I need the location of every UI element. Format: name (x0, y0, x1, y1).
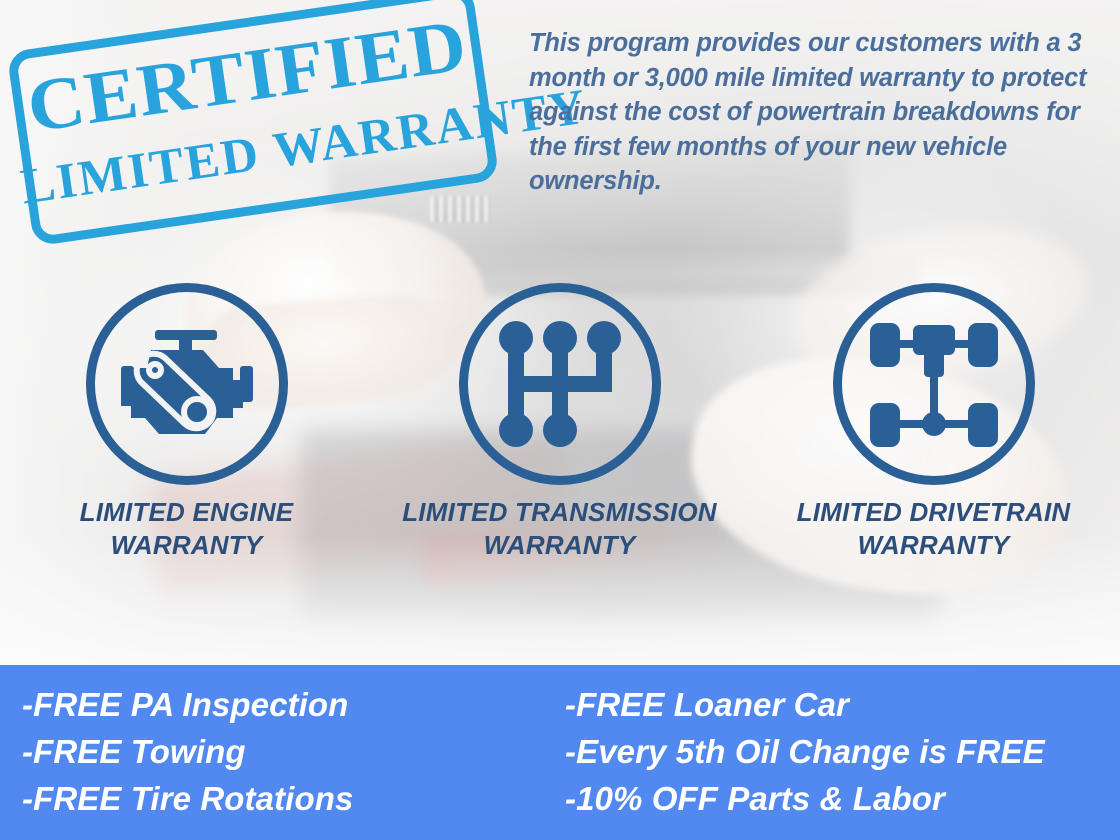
drivetrain-caption: LIMITED DRIVETRAIN WARRANTY (747, 496, 1120, 562)
perks-column-left: -FREE PA Inspection -FREE Towing -FREE T… (22, 681, 353, 822)
perks-banner: -FREE PA Inspection -FREE Towing -FREE T… (0, 665, 1120, 840)
perk-item: -FREE Towing (22, 728, 353, 775)
transmission-caption-line2: WARRANTY (373, 529, 746, 562)
drivetrain-caption-line1: LIMITED DRIVETRAIN (747, 496, 1120, 529)
perk-item: -FREE Loaner Car (565, 681, 1045, 728)
warranty-promo-graphic: CERTIFIED LIMITED WARRANTY This program … (0, 0, 1120, 840)
perk-item: -FREE PA Inspection (22, 681, 353, 728)
transmission-caption-line1: LIMITED TRANSMISSION (373, 496, 746, 529)
perk-item: -Every 5th Oil Change is FREE (565, 728, 1045, 775)
engine-caption: LIMITED ENGINE WARRANTY (0, 496, 373, 562)
feature-limited-transmission-warranty: LIMITED TRANSMISSION WARRANTY (373, 283, 746, 562)
program-description-paragraph: This program provides our customers with… (529, 26, 1089, 199)
warranty-coverage-list: LIMITED ENGINE WARRANTY (0, 283, 1120, 573)
transmission-shifter-icon (499, 321, 621, 447)
perk-item: -10% OFF Parts & Labor (565, 775, 1045, 822)
engine-icon (121, 330, 253, 438)
engine-caption-line1: LIMITED ENGINE (0, 496, 373, 529)
drivetrain-icon (870, 319, 998, 449)
drivetrain-caption-line2: WARRANTY (747, 529, 1120, 562)
drivetrain-icon-circle (833, 283, 1035, 485)
feature-limited-engine-warranty: LIMITED ENGINE WARRANTY (0, 283, 373, 562)
engine-caption-line2: WARRANTY (0, 529, 373, 562)
perks-column-right: -FREE Loaner Car -Every 5th Oil Change i… (565, 681, 1045, 822)
transmission-caption: LIMITED TRANSMISSION WARRANTY (373, 496, 746, 562)
feature-limited-drivetrain-warranty: LIMITED DRIVETRAIN WARRANTY (747, 283, 1120, 562)
engine-icon-circle (86, 283, 288, 485)
transmission-icon-circle (459, 283, 661, 485)
perk-item: -FREE Tire Rotations (22, 775, 353, 822)
